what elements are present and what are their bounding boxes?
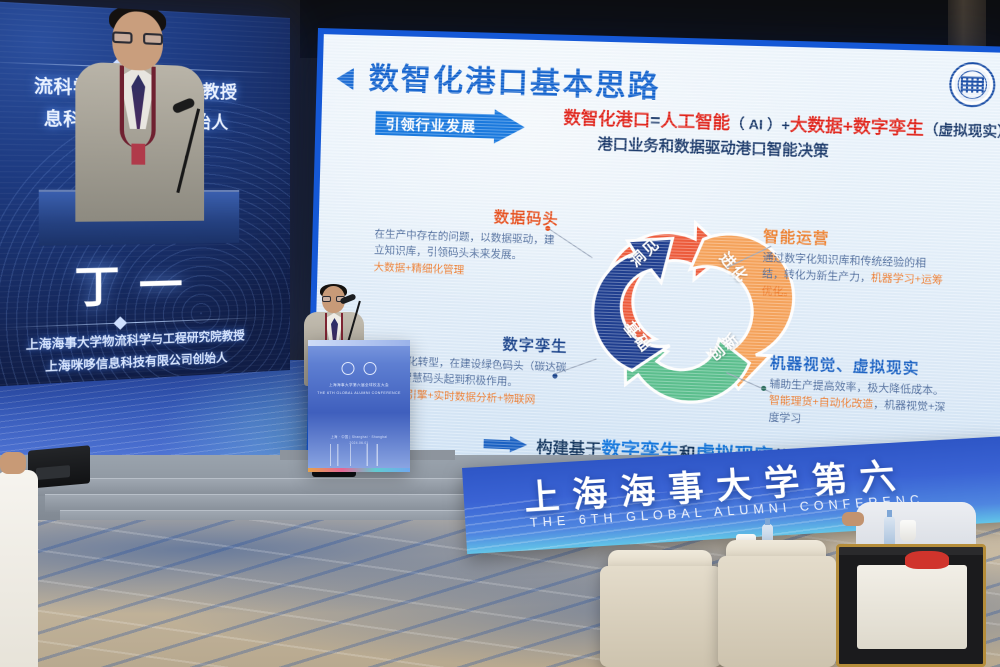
foreground-attendee-left: [0, 470, 38, 667]
water-bottle: [884, 516, 895, 546]
formula-equals: =: [650, 111, 661, 131]
conclusion-arrow-icon: [483, 435, 528, 453]
formula-plus2: +: [842, 117, 853, 137]
logo-mark-1: [342, 362, 355, 375]
table-cloth: [857, 565, 967, 649]
block-data-terminal-heading: 数据码头: [375, 202, 559, 229]
formula-left: 数智化港口: [563, 108, 650, 130]
back-arrow-icon[interactable]: [336, 68, 354, 91]
speaker-lanyard: [120, 65, 156, 148]
block-data-terminal-highlight: 大数据+精细化管理: [373, 261, 464, 276]
foreground-armchair-2: [718, 556, 836, 667]
block-machine-vision-body-1: 辅助生产提高效率，极大降低成本。: [769, 378, 944, 397]
logo-mark-2: [364, 362, 377, 375]
lectern-title: 上海海事大学第六届全球校友大会 THE 6TH GLOBAL ALUMNI CO…: [308, 382, 410, 397]
color-stripe: [308, 468, 410, 472]
lectern-title-en: THE 6TH GLOBAL ALUMNI CONFERENCE: [308, 390, 410, 398]
leader-dot-machine-vision: [761, 386, 766, 391]
block-data-terminal: 数据码头 在生产中存在的问题，以数据驱动，建立知识库，引领码头未来发展。大数据+…: [373, 202, 559, 282]
lectern-title-cn: 上海海事大学第六届全球校友大会: [308, 382, 410, 390]
slide-title: 数智化港口基本思路: [368, 53, 661, 106]
lectern: 上海海事大学第六届全球校友大会 THE 6TH GLOBAL ALUMNI CO…: [308, 340, 410, 472]
block-smart-ops: 智能运营 通过数字化知识库和传统经验的相结，转化为新生产力，机器学习+运筹优化。: [761, 225, 946, 306]
block-machine-vision: 机器视觉、虚拟现实 辅助生产提高效率，极大降低成本。智能理货+自动化改造，机器视…: [768, 352, 953, 434]
arrow-head: [494, 109, 525, 144]
formula-term3-paren: （虚拟现实）: [924, 121, 1000, 140]
speaker-video-feed: [69, 1, 211, 215]
skyline-graphic: [326, 444, 396, 466]
conference-photo-scene: 流科学与工程研究院教授 息科技有限公司创始人 丁一 上海海事大学物流科学与工程研…: [0, 0, 1000, 667]
formula-term1: 人工智能: [660, 111, 730, 132]
speaker-badge: [131, 144, 145, 165]
block-data-terminal-body: 在生产中存在的问题，以数据驱动，建立知识库，引领码头未来发展。: [374, 228, 555, 262]
left-profile-screen: 流科学与工程研究院教授 息科技有限公司创始人 丁一 上海海事大学物流科学与工程研…: [0, 0, 290, 388]
foreground-side-table: [836, 544, 986, 667]
formula-term2: 大数据: [790, 115, 843, 136]
block-machine-vision-highlight: 智能理货+自动化改造: [769, 394, 874, 410]
lead-arrow-label: 引领行业发展: [385, 114, 476, 137]
block-smart-ops-heading: 智能运营: [763, 225, 946, 253]
speaker-name: 丁一: [0, 248, 290, 321]
eyeglasses-icon: [112, 31, 163, 45]
foreground-armchair-1: [600, 566, 722, 667]
block-machine-vision-heading: 机器视觉、虚拟现实: [770, 352, 953, 381]
definition-formula: 数智化港口=人工智能（ AI ）+大数据+数字孪生（虚拟现实） 港口业务和数据驱…: [563, 103, 1000, 166]
lectern-logos: [342, 362, 377, 375]
university-seal-logo: [949, 62, 996, 108]
slide-canvas: 数智化港口基本思路 引领行业发展 数智化港口=人工智能（ AI ）+大数据+数字…: [312, 34, 1000, 500]
formula-term3: 数字孪生: [853, 117, 924, 139]
formula-term1-paren: （ AI ）: [730, 115, 782, 133]
red-object: [905, 551, 949, 569]
paper-cup: [900, 520, 916, 542]
lead-arrow-callout: 引领行业发展: [375, 106, 537, 145]
